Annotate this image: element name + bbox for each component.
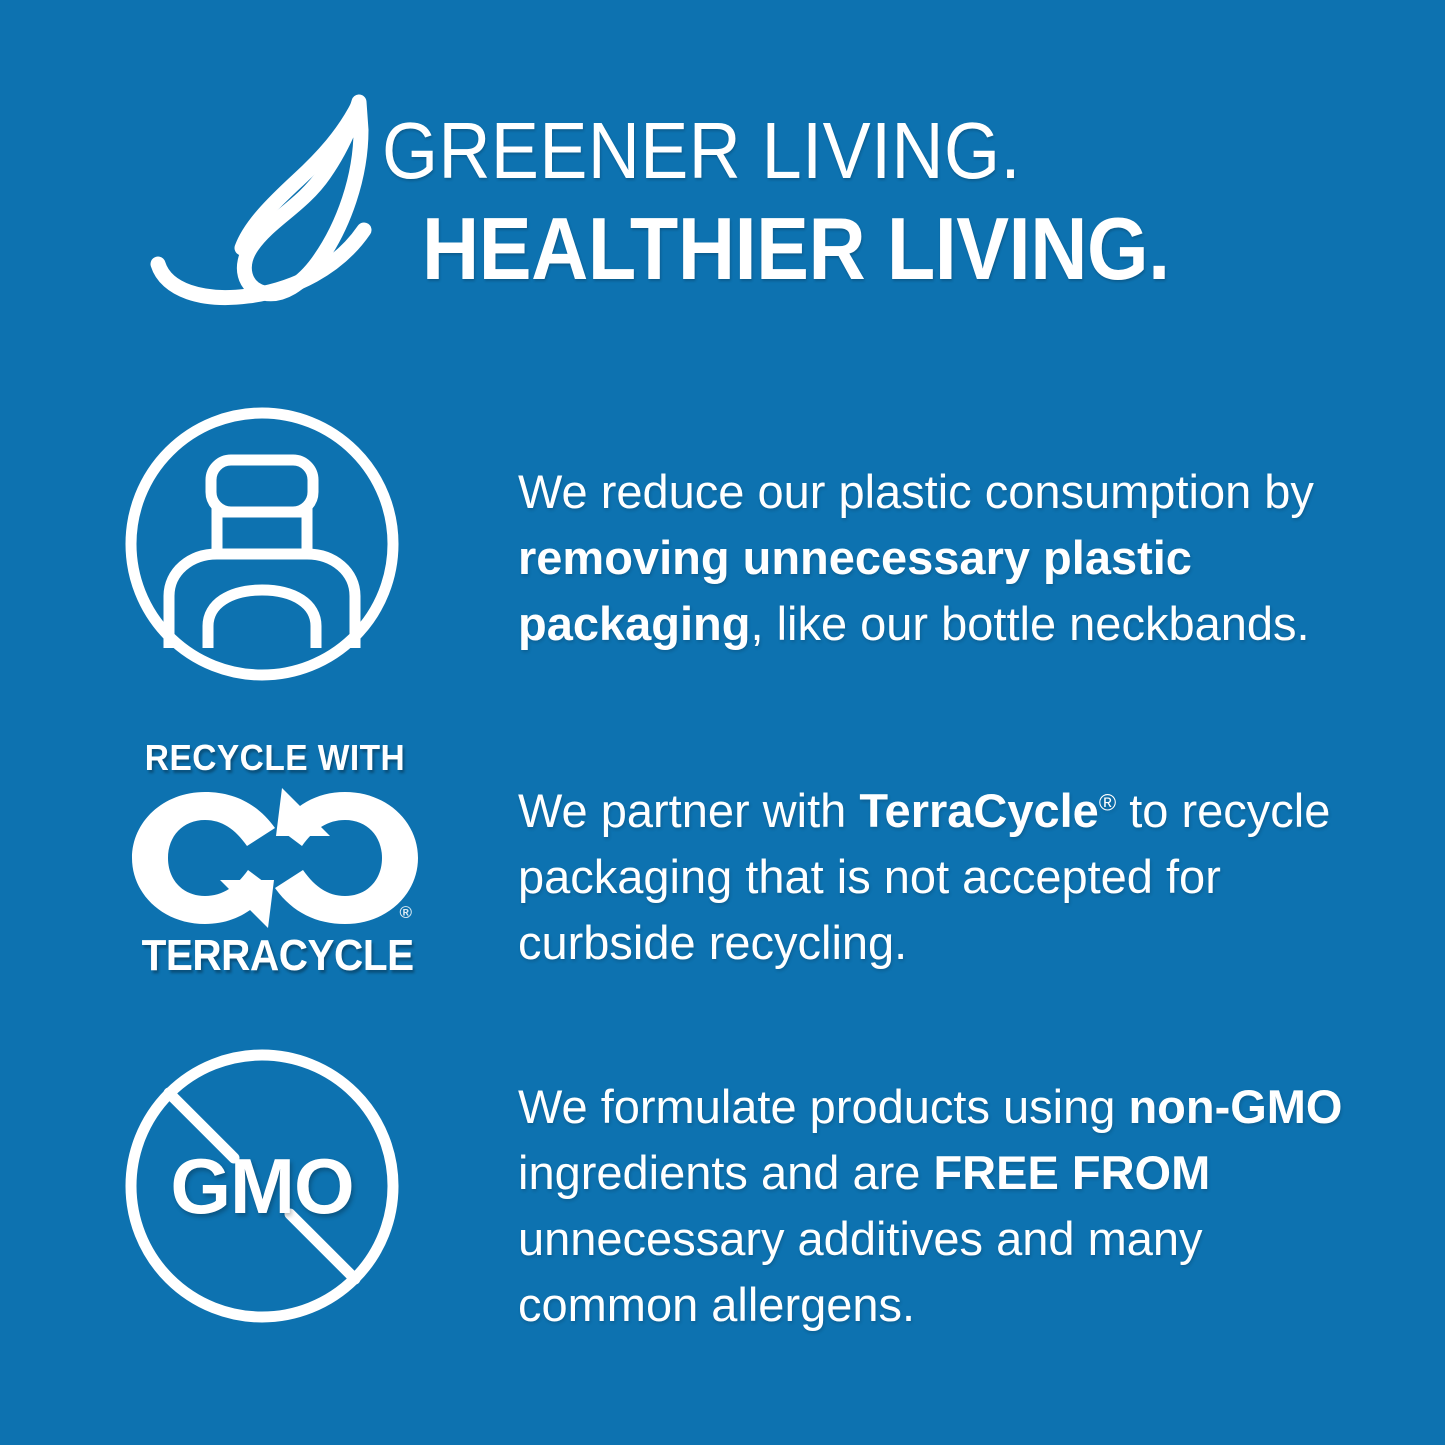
- text-segment: unnecessary additives and many common al…: [518, 1212, 1203, 1331]
- leaf-icon: [152, 96, 374, 308]
- poster-header: GREENER LIVING. HEALTHIER LIVING.: [0, 0, 1445, 360]
- benefit-row-non-gmo: GMO We formulate products using non-GMO …: [0, 1046, 1445, 1356]
- text-segment-bold: non-GMO: [1128, 1080, 1342, 1133]
- headline-block: GREENER LIVING. HEALTHIER LIVING.: [382, 104, 1382, 298]
- text-segment: We formulate products using: [518, 1080, 1128, 1133]
- registered-mark: ®: [1099, 789, 1116, 815]
- terracycle-registered-mark: ®: [399, 904, 412, 921]
- text-segment-bold: FREE FROM: [933, 1146, 1210, 1199]
- text-segment: We reduce our plastic consumption by: [518, 465, 1314, 518]
- terracycle-top-text: RECYCLE WITH: [140, 738, 410, 778]
- headline-line-1: GREENER LIVING.: [382, 104, 1282, 198]
- headline-line-2: HEALTHIER LIVING.: [422, 200, 1286, 298]
- text-segment: We partner with: [518, 784, 859, 837]
- benefit-text-terracycle: We partner with TerraCycle® to recycle p…: [518, 778, 1378, 976]
- greener-living-poster: GREENER LIVING. HEALTHIER LIVING. We red…: [0, 0, 1445, 1445]
- bottle-neckband-icon: [122, 404, 402, 684]
- terracycle-logo: RECYCLE WITH ® TERRACYCLE: [130, 736, 420, 986]
- text-segment-bold: TerraCycle: [859, 784, 1099, 837]
- benefit-row-plastic-reduction: We reduce our plastic consumption by rem…: [0, 404, 1445, 714]
- benefit-text-non-gmo: We formulate products using non-GMO ingr…: [518, 1074, 1378, 1338]
- benefit-row-terracycle: RECYCLE WITH ® TERRACYCLE: [0, 736, 1445, 1026]
- benefit-text-plastic-reduction: We reduce our plastic consumption by rem…: [518, 459, 1378, 657]
- text-segment: , like our bottle neckbands.: [750, 597, 1309, 650]
- text-segment: ingredients and are: [518, 1146, 933, 1199]
- no-gmo-icon: GMO: [122, 1046, 402, 1326]
- terracycle-wordmark: TERRACYCLE: [142, 932, 409, 980]
- infinity-recycle-arrows-icon: [130, 788, 420, 928]
